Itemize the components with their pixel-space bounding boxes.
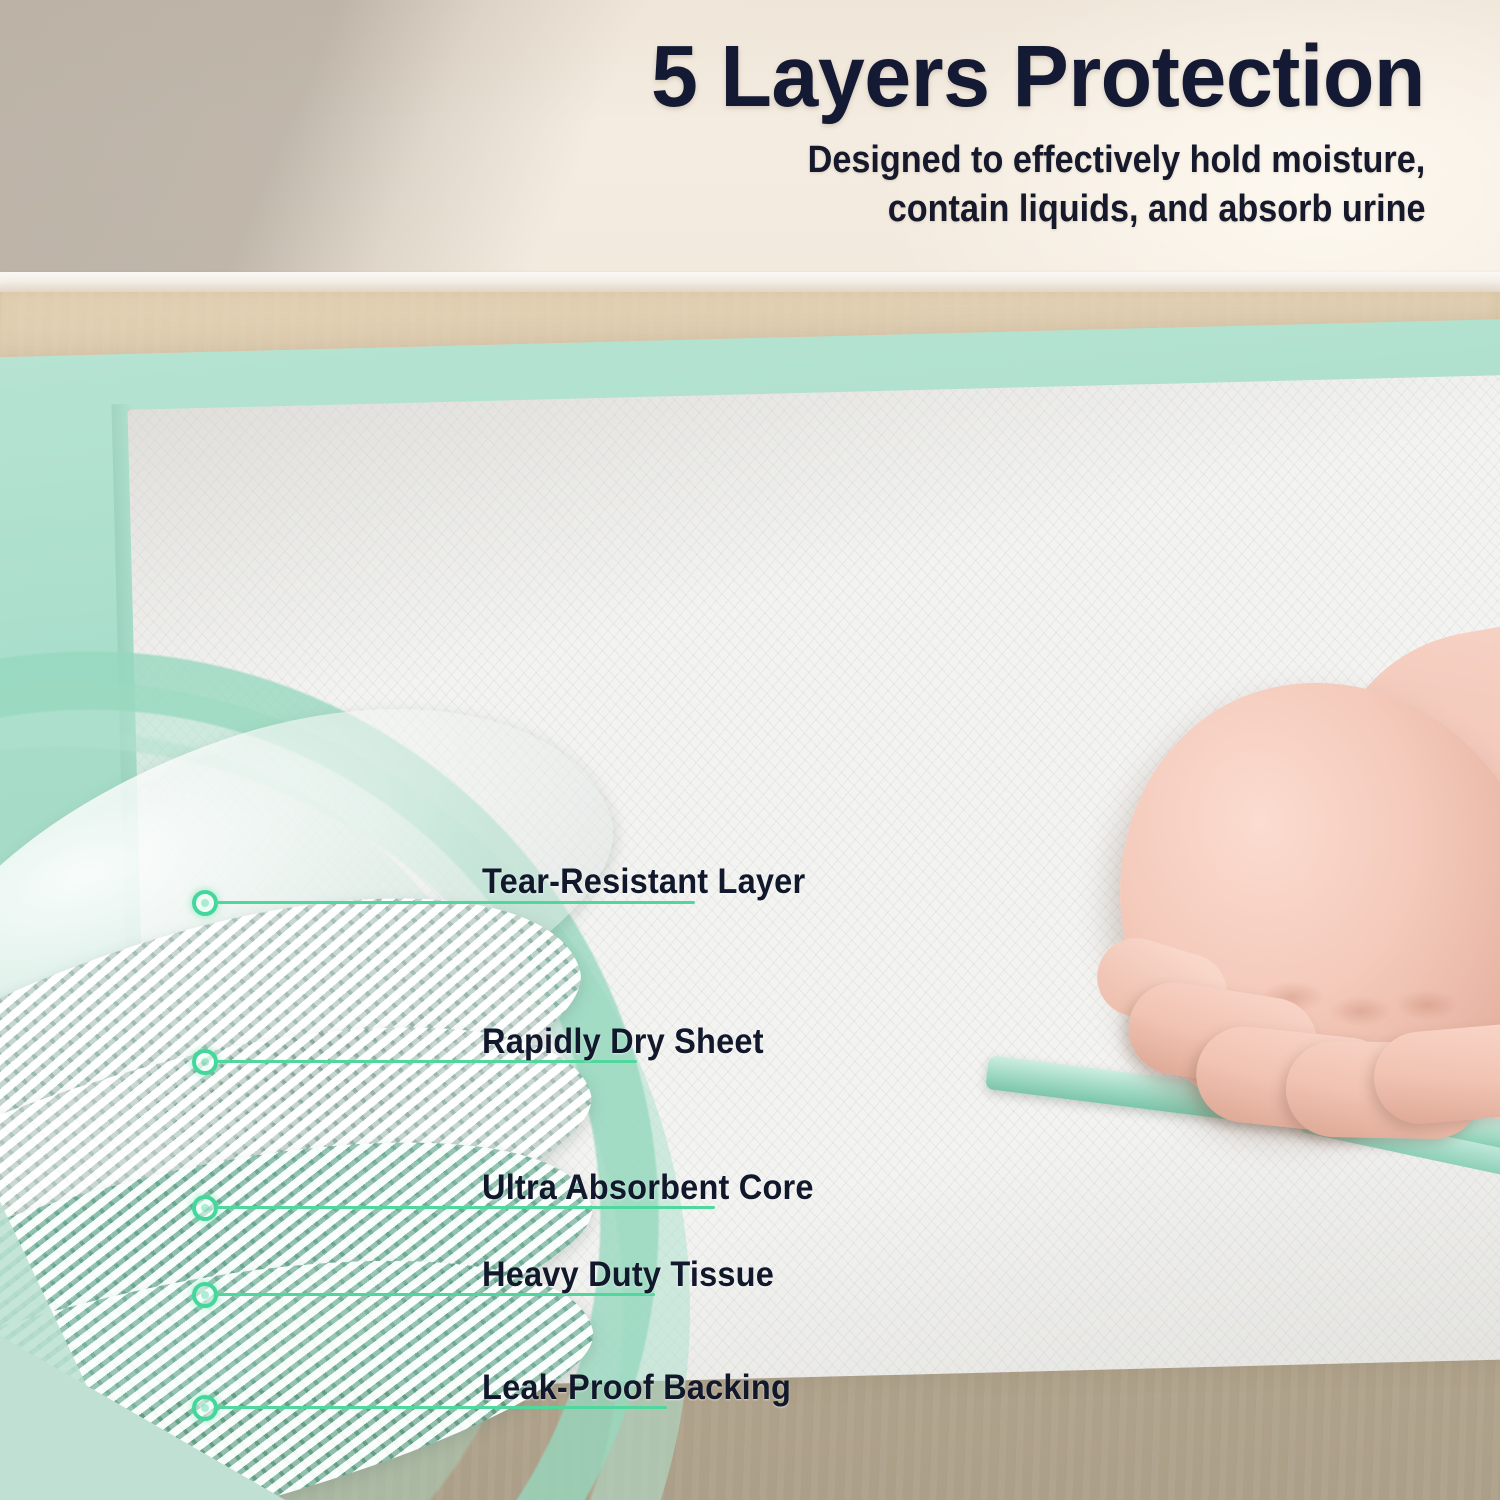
callout-label-4: Heavy Duty Tissue: [482, 1255, 774, 1295]
subtitle-line-2: contain liquids, and absorb urine: [887, 190, 1425, 228]
subtitle-line-1: Designed to effectively hold moisture,: [807, 141, 1425, 179]
headline-title: 5 Layers Protection: [651, 33, 1425, 120]
callout-label-5: Leak-Proof Backing: [482, 1368, 791, 1408]
callout-label-1: Tear-Resistant Layer: [482, 862, 805, 902]
callout-label-3: Ultra Absorbent Core: [482, 1168, 814, 1208]
callout-label-2: Rapidly Dry Sheet: [482, 1022, 764, 1062]
infographic-canvas: Tear-Resistant Layer Rapidly Dry Sheet U…: [0, 0, 1500, 1500]
